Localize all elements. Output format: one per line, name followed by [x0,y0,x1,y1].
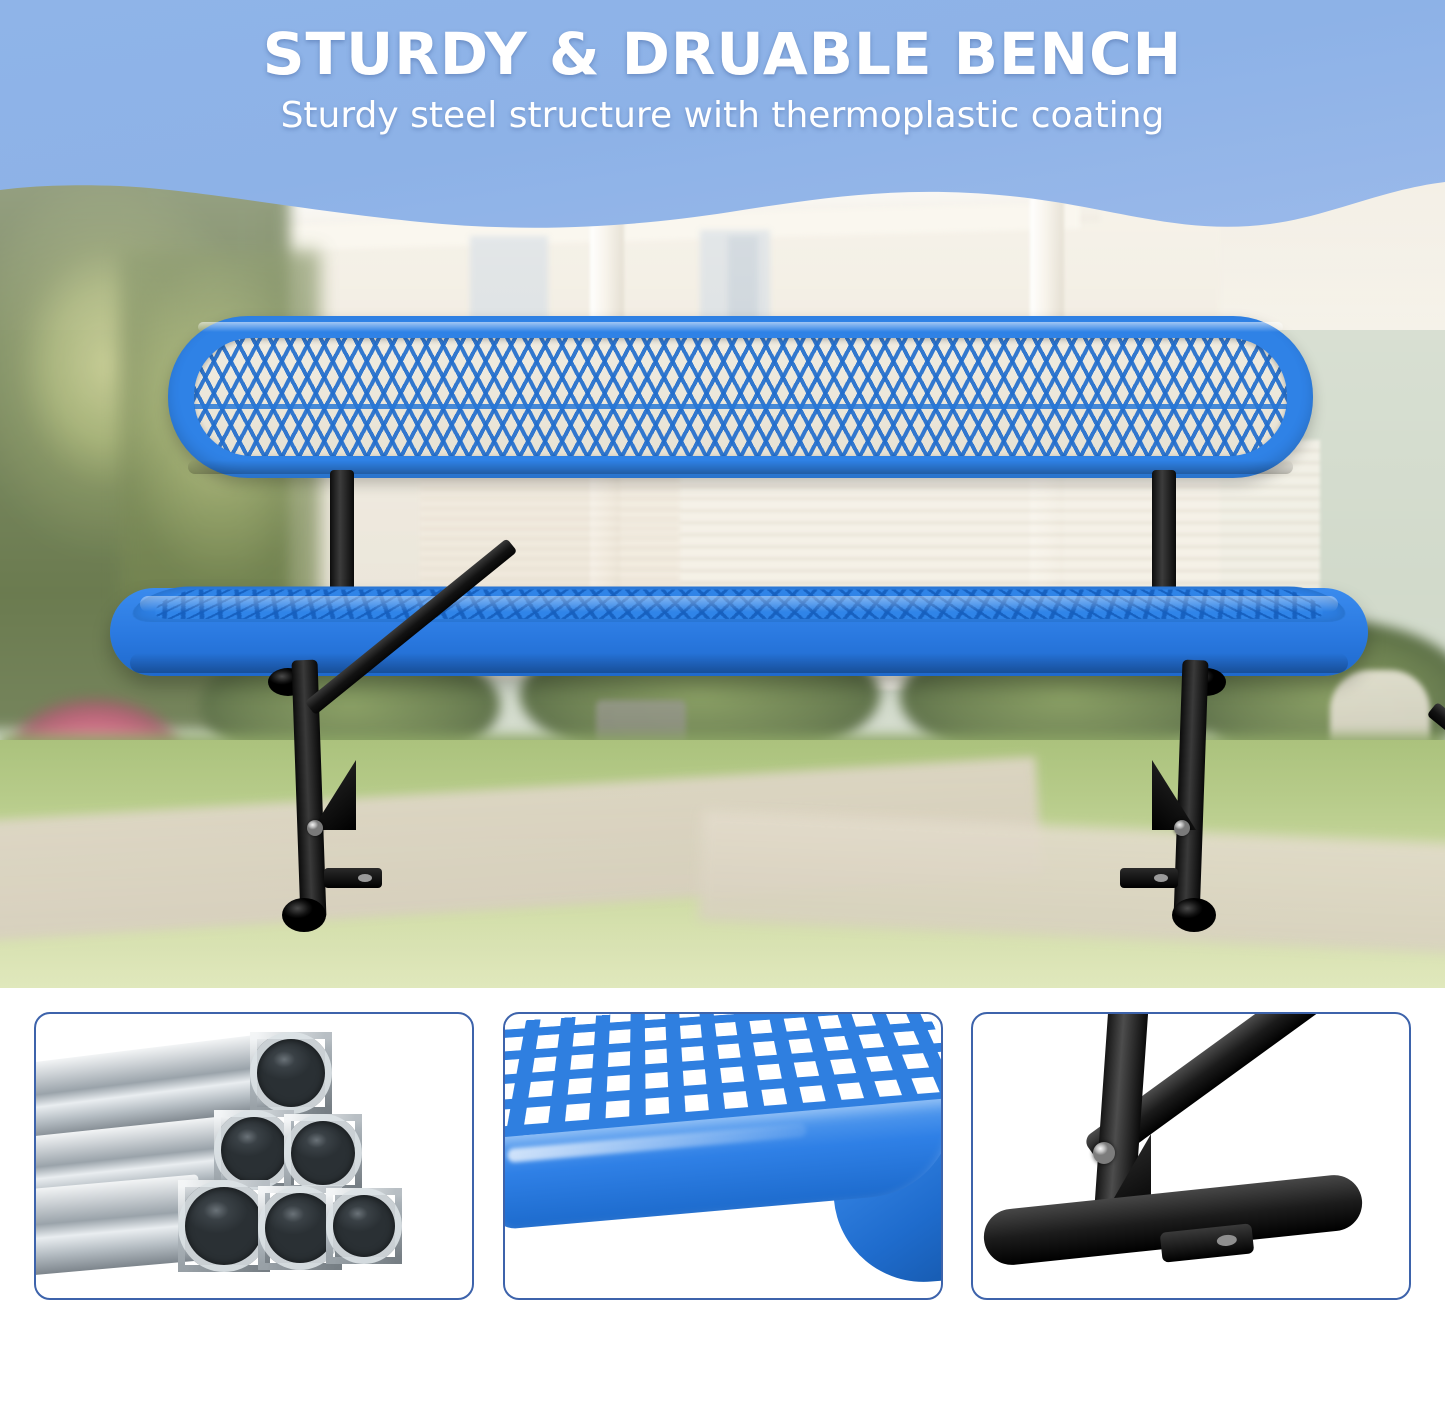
bolt-left [307,820,323,836]
steel-tube-end [326,1188,402,1264]
mounting-hole [1216,1234,1237,1247]
foot-tube-cap-right [1172,898,1216,932]
feature-panel-row [0,1012,1445,1312]
bolt-right [1174,820,1190,836]
steel-tube-end [284,1114,362,1192]
steel-tube-end [250,1032,332,1114]
banner-text-block: STURDY & DRUABLE BENCH Sturdy steel stru… [0,0,1445,136]
mounting-hole [358,874,372,882]
diagonal-support-rod-right [1427,702,1445,879]
backrest-mid-rail [194,404,1287,409]
feature-panels-section: Heavy Duty Steel Structure Durable Therm… [0,988,1445,1423]
seat-edge-highlight [140,596,1338,612]
feature-panel-thermoplastic-coating [503,1012,943,1300]
banner-subtitle: Sturdy steel structure with thermoplasti… [0,95,1445,136]
bench-leg-right [1173,660,1208,921]
mounting-hole [1154,874,1168,882]
bench-backrest [168,316,1313,478]
steel-tube-end [214,1110,294,1190]
bolt-icon [1093,1142,1115,1164]
mounting-plate-right [1120,868,1178,888]
backrest-mesh [194,338,1287,456]
backrest-highlight [198,322,1283,332]
feature-panel-steel-structure [34,1012,474,1300]
mounting-plate-left [324,868,382,888]
banner-title: STURDY & DRUABLE BENCH [0,24,1445,85]
product-feature-image: STURDY & DRUABLE BENCH Sturdy steel stru… [0,0,1445,1423]
backrest-post-right [1152,470,1176,600]
header-banner: STURDY & DRUABLE BENCH Sturdy steel stru… [0,0,1445,270]
backrest-post-left [330,470,354,600]
feature-panel-support-rod [971,1012,1411,1300]
foot-tube-cap-left [282,898,326,932]
steel-tube-end [178,1180,270,1272]
